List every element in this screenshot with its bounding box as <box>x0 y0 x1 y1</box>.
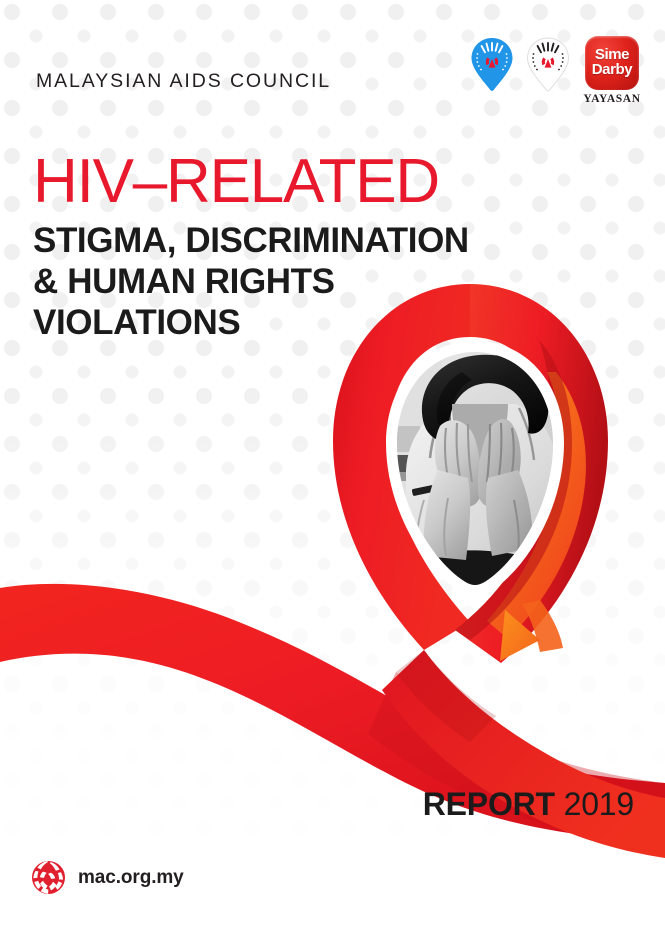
sime-darby-badge: Sime Darby <box>585 36 639 90</box>
white-map-pin-icon <box>525 36 571 92</box>
blue-map-pin-icon <box>469 36 515 92</box>
footer-brand[interactable]: mac.org.my <box>31 860 184 895</box>
report-year: 2019 <box>564 786 634 822</box>
cover-subtitle: STIGMA, DISCRIMINATION & HUMAN RIGHTS VI… <box>33 221 469 344</box>
logo-malaysian-aids-foundation-pin-white[interactable] <box>525 36 571 92</box>
subtitle-line-2: & HUMAN RIGHTS <box>33 262 469 303</box>
person-covering-face-photo <box>386 340 568 602</box>
sime-darby-line2: Darby <box>592 63 633 78</box>
logo-sime-darby-yayasan[interactable]: Sime Darby YAYASAN <box>581 36 643 105</box>
partner-logo-row: Sime Darby YAYASAN <box>469 36 643 105</box>
report-word: REPORT <box>423 786 555 822</box>
subtitle-line-1: STIGMA, DISCRIMINATION <box>33 221 469 262</box>
subtitle-line-3: VIOLATIONS <box>33 303 469 344</box>
report-year-label: REPORT 2019 <box>423 786 634 823</box>
cover-title-block: HIV–RELATED STIGMA, DISCRIMINATION & HUM… <box>33 153 469 344</box>
footer-url[interactable]: mac.org.my <box>78 867 184 889</box>
organization-name: MALAYSIAN AIDS COUNCIL <box>36 70 331 93</box>
yayasan-caption: YAYASAN <box>583 93 640 105</box>
mac-globe-icon <box>31 860 66 895</box>
report-cover-page: MALAYSIAN AIDS COUNCIL <box>0 0 665 940</box>
page-title: HIV–RELATED <box>33 153 469 212</box>
logo-malaysian-aids-council-pin-blue[interactable] <box>469 36 515 92</box>
